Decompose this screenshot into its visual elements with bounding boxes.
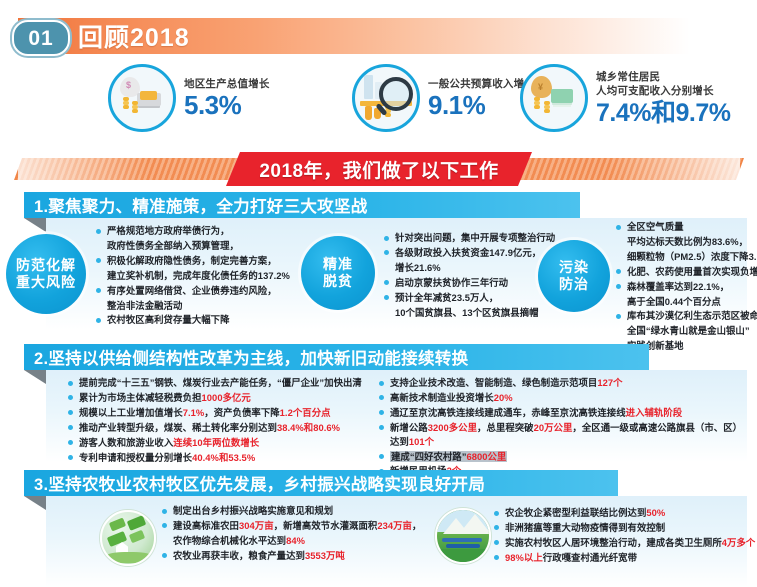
kpi-gdp-label: 地区生产总值增长 — [184, 77, 270, 91]
bullet-item: 有序处置网络借贷、企业债券违约风险， — [96, 284, 296, 298]
section-1-heading-bold: 三大攻坚战 — [284, 193, 368, 217]
bullet-item: 农作物综合机械化水平达到84% — [162, 534, 438, 548]
emphasis-number: 3200多公里 — [428, 422, 477, 433]
bullet-item: 专利申请和授权量分别增长40.4%和53.5% — [68, 451, 398, 465]
emphasis-number: 234万亩 — [377, 520, 412, 531]
section-3-column-1: 制定出台乡村振兴战略实施意见和规划建设高标准农田304万亩，新增高效节水灌溉面积… — [162, 504, 438, 564]
bullet-text: ，新增高效节水灌溉面积 — [274, 520, 378, 531]
emphasis-number: 3553万吨 — [305, 550, 345, 561]
bullet-text: 建成“四好农村路” — [391, 451, 466, 462]
section-3-fold-shadow — [24, 496, 46, 510]
emphasis-number: 84% — [286, 535, 305, 546]
section-3-heading-normal: 3.坚持农牧业农村牧区优先发展， — [34, 471, 284, 495]
emphasis-number: 20万公里 — [534, 422, 573, 433]
bullet-text: 政府性债务全部纳入预算管理， — [107, 240, 239, 251]
section-2-heading: 2.坚持以供给侧结构性改革为主线， 加快新旧动能接续转换 — [24, 344, 649, 370]
kpi-budget-label: 一般公共预算收入增长 — [428, 77, 535, 91]
bullet-text: 规模以上工业增加值增长 — [79, 407, 183, 418]
bullet-item: 高新技术制造业投资增长20% — [379, 391, 751, 405]
bullet-item: 制定出台乡村振兴战略实施意见和规划 — [162, 504, 438, 518]
bullet-item: 全区空气质量 — [616, 220, 757, 234]
bullet-text: 推动产业转型升级，煤炭、稀土转化率分别达到 — [79, 422, 277, 433]
kpi-income-value: 7.4%和9.7% — [596, 100, 730, 126]
page-title: 回顾2018 — [78, 20, 190, 52]
bullet-item: 游客人数和旅游业收入连续10年两位数增长 — [68, 436, 398, 450]
pillar-poverty-alleviation: 精准 脱贫 — [301, 236, 375, 310]
selected-text-highlight: 建成“四好农村路”6800公里 — [390, 451, 507, 462]
bullet-item: 各级财政投入扶贫资金147.9亿元， — [384, 246, 564, 260]
header-number-badge: 01 — [12, 20, 70, 56]
bullet-item: 农村牧区高利贷存量大幅下降 — [96, 313, 296, 327]
section-1-group-3-list: 全区空气质量平均达标天数比例为83.6%，细颗粒物（PM2.5）浓度下降3.1%… — [616, 220, 757, 354]
section-1-body: 防范化解 重大风险 严格规范地方政府举债行为，政府性债务全部纳入预算管理，积极化… — [46, 218, 747, 330]
bullet-item: 建成“四好农村路”6800公里 — [379, 450, 751, 464]
kpi-income-text: 城乡常住居民 人均可支配收入分别增长 7.4%和9.7% — [596, 70, 730, 126]
section-1-group-1-list: 严格规范地方政府举债行为，政府性债务全部纳入预算管理，积极化解政府隐性债务，制定… — [96, 224, 296, 328]
bullet-text: 全国“绿水青山就是金山银山” — [627, 325, 750, 336]
section-1-heading: 1.聚焦聚力、精准施策，全力打好 三大攻坚战 — [24, 192, 580, 218]
emphasis-number: 101个 — [409, 436, 434, 447]
magnifier-city-budget-icon — [352, 64, 420, 132]
emphasis-number: 20% — [494, 392, 513, 403]
bullet-text: 全区空气质量 — [627, 221, 684, 232]
bullet-text: 专利申请和授权量分别增长 — [79, 452, 192, 463]
page-header: 01 回顾2018 — [0, 18, 757, 54]
bullet-item: 积极化解政府隐性债务，制定完善方案， — [96, 254, 296, 268]
money-bag-cash-icon: $ — [108, 64, 176, 132]
emphasis-number: 304万亩 — [239, 520, 274, 531]
pillar-poverty-line-2: 脱贫 — [323, 273, 353, 290]
ribbon-banner: 2018年，我们做了以下工作 — [0, 152, 757, 186]
bullet-item: 实施农村牧区人居环境整治行动，建成各类卫生厕所4万多个 — [494, 536, 757, 550]
farmland-fields-icon — [100, 510, 156, 566]
bullet-item: 新增公路3200多公里，总里程突破20万公里，全区通一级或高速公路旗县（市、区）… — [379, 421, 751, 449]
bullet-text: 新增公路 — [390, 422, 428, 433]
bullet-text: 森林覆盖率达到22.1%， — [627, 281, 729, 292]
bullet-text: 通辽至京沈高铁连接线建成通车，赤峰至京沈高铁连接线 — [390, 407, 626, 418]
bullet-text: 农作物综合机械化水平达到 — [173, 535, 286, 546]
emphasis-number: 1000多亿元 — [202, 392, 251, 403]
emphasis-number: 127个 — [597, 377, 622, 388]
bullet-text: 平均达标天数比例为83.6%， — [627, 236, 748, 247]
bullet-item: 全国“绿水青山就是金山银山” — [616, 324, 757, 338]
bullet-text: 化肥、农药使用量首次实现负增长 — [627, 266, 757, 277]
bullet-text: 预计全年减贫23.5万人， — [395, 292, 498, 303]
pillar-risk-prevention: 防范化解 重大风险 — [6, 234, 86, 314]
emphasis-number: 连续10年两位数增长 — [173, 437, 259, 448]
bullet-text: ，总里程突破 — [477, 422, 534, 433]
kpi-income-label-1: 城乡常住居民 — [596, 70, 730, 84]
bullet-text: 库布其沙漠亿利生态示范区被命名为 — [627, 310, 757, 321]
emphasis-number: 4万多个 — [722, 537, 756, 548]
pillar-pollution-line-2: 防治 — [559, 276, 589, 293]
section-1-fold-shadow — [24, 218, 46, 232]
bullet-text: 支持企业技术改造、智能制造、绿色制造示范项目 — [390, 377, 597, 388]
kpi-budget-revenue-growth: 一般公共预算收入增长 9.1% — [352, 58, 535, 138]
section-3-heading-bold: 乡村振兴战略实现良好开局 — [284, 471, 486, 495]
bullet-text: 有序处置网络借贷、企业债券违约风险， — [107, 285, 277, 296]
section-3-column-2: 农企牧企紧密型利益联结比例达到50%非洲猪瘟等重大动物疫情得到有效控制实施农村牧… — [494, 506, 757, 566]
mountain-river-grassland-icon — [435, 508, 491, 564]
bullet-item: 非洲猪瘟等重大动物疫情得到有效控制 — [494, 521, 757, 535]
bullet-text: 游客人数和旅游业收入 — [79, 437, 173, 448]
emphasis-number: 38.4%和80.6% — [277, 422, 340, 433]
bullet-item: 化肥、农药使用量首次实现负增长 — [616, 265, 757, 279]
section-2-column-2: 支持企业技术改造、智能制造、绿色制造示范项目127个高新技术制造业投资增长20%… — [379, 376, 751, 479]
emphasis-number: 98%以上 — [505, 552, 543, 563]
bullet-item: 启动京蒙扶贫协作三年行动 — [384, 276, 564, 290]
bullet-text: 农牧业再获丰收，粮食产量达到 — [173, 550, 305, 561]
ribbon-red-plate: 2018年，我们做了以下工作 — [226, 152, 532, 186]
kpi-gdp-growth: $ 地区生产总值增长 5.3% — [108, 58, 270, 138]
bullet-text: 启动京蒙扶贫协作三年行动 — [395, 277, 508, 288]
bullet-item: 提前完成“十三五”钢铁、煤炭行业去产能任务，“僵尸企业”加快出清 — [68, 376, 398, 390]
bullet-item: 整治非法金融活动 — [96, 299, 296, 313]
kpi-budget-text: 一般公共预算收入增长 9.1% — [428, 77, 535, 119]
section-2-fold-shadow — [24, 370, 46, 384]
infographic-page: 01 回顾2018 $ 地区生产总值增长 5.3% — [0, 0, 757, 587]
section-2-body: 提前完成“十三五”钢铁、煤炭行业去产能任务，“僵尸企业”加快出清累计为市场主体减… — [46, 370, 747, 462]
bullet-text: 10个国贫旗县、13个区贫旗县摘帽 — [395, 307, 539, 318]
kpi-row: $ 地区生产总值增长 5.3% — [0, 58, 757, 138]
section-2-heading-bold: 加快新旧动能接续转换 — [300, 345, 468, 369]
bullet-text: 高新技术制造业投资增长 — [390, 392, 494, 403]
bullet-item: 严格规范地方政府举债行为， — [96, 224, 296, 238]
section-3-body: 制定出台乡村振兴战略实施意见和规划建设高标准农田304万亩，新增高效节水灌溉面积… — [46, 496, 747, 587]
pillar-pollution-line-1: 污染 — [559, 259, 589, 276]
section-1-group-2-list: 针对突出问题，集中开展专项整治行动各级财政投入扶贫资金147.9亿元，增长21.… — [384, 231, 564, 320]
bullet-item: 通辽至京沈高铁连接线建成通车，赤峰至京沈高铁连接线进入辅轨阶段 — [379, 406, 751, 420]
pillar-risk-line-2: 重大风险 — [16, 274, 76, 291]
bullet-text: 提前完成“十三五”钢铁、煤炭行业去产能任务，“僵尸企业”加快出清 — [79, 377, 362, 388]
bullet-item: 支持企业技术改造、智能制造、绿色制造示范项目127个 — [379, 376, 751, 390]
bullet-item: 森林覆盖率达到22.1%， — [616, 280, 757, 294]
bullet-text: 细颗粒物（PM2.5）浓度下降3.1% — [627, 251, 757, 262]
emphasis-number: 1.2个百分点 — [280, 407, 331, 418]
bullet-item: 细颗粒物（PM2.5）浓度下降3.1% — [616, 250, 757, 264]
pillar-pollution-control: 污染 防治 — [538, 240, 610, 312]
bullet-item: 农牧业再获丰收，粮食产量达到3553万吨 — [162, 549, 438, 563]
bullet-item: 预计全年减贫23.5万人， — [384, 291, 564, 305]
bullet-text: 建设高标准农田 — [173, 520, 239, 531]
bullet-text: 严格规范地方政府举债行为， — [107, 225, 230, 236]
bullet-item: 政府性债务全部纳入预算管理， — [96, 239, 296, 253]
bullet-text: 累计为市场主体减轻税费负担 — [79, 392, 202, 403]
emphasis-number: 进入辅轨阶段 — [626, 407, 683, 418]
bullet-item: 农企牧企紧密型利益联结比例达到50% — [494, 506, 757, 520]
pillar-risk-line-1: 防范化解 — [16, 257, 76, 274]
bullet-item: 累计为市场主体减轻税费负担1000多亿元 — [68, 391, 398, 405]
bullet-item: 10个国贫旗县、13个区贫旗县摘帽 — [384, 306, 564, 320]
kpi-gdp-value: 5.3% — [184, 92, 270, 119]
bullet-item: 高于全国0.44个百分点 — [616, 295, 757, 309]
bullet-text: 针对突出问题，集中开展专项整治行动 — [395, 232, 555, 243]
bullet-text: 各级财政投入扶贫资金147.9亿元， — [395, 247, 541, 258]
bullet-item: 增长21.6% — [384, 261, 564, 275]
pillar-poverty-line-1: 精准 — [323, 256, 353, 273]
emphasis-number: 6800公里 — [466, 451, 506, 462]
bullet-text: 积极化解政府隐性债务，制定完善方案， — [107, 255, 277, 266]
emphasis-number: 50% — [646, 507, 665, 518]
section-2-column-1: 提前完成“十三五”钢铁、煤炭行业去产能任务，“僵尸企业”加快出清累计为市场主体减… — [68, 376, 398, 465]
bullet-item: 98%以上行政嘎查村通光纤宽带 — [494, 551, 757, 565]
bullet-item: 推动产业转型升级，煤炭、稀土转化率分别达到38.4%和80.6% — [68, 421, 398, 435]
header-number-label: 01 — [28, 28, 53, 49]
bullet-text: 制定出台乡村振兴战略实施意见和规划 — [173, 505, 333, 516]
kpi-disposable-income-growth: ¥ 城乡常住居民 人均可支配收入分别增长 7.4%和9.7% — [520, 58, 730, 138]
bullet-item: 建立奖补机制，完成年度化债任务的137.2% — [96, 269, 296, 283]
money-bag-banknotes-icon: ¥ — [520, 64, 588, 132]
bullet-text: 实施农村牧区人居环境整治行动，建成各类卫生厕所 — [505, 537, 722, 548]
bullet-text: 整治非法金融活动 — [107, 300, 182, 311]
bullet-text: ，资产负债率下降 — [204, 407, 279, 418]
section-1-heading-normal: 1.聚焦聚力、精准施策，全力打好 — [34, 193, 284, 217]
bullet-item: 建设高标准农田304万亩，新增高效节水灌溉面积234万亩， — [162, 519, 438, 533]
bullet-text: 增长21.6% — [395, 262, 441, 273]
bullet-item: 针对突出问题，集中开展专项整治行动 — [384, 231, 564, 245]
bullet-text: ， — [412, 520, 421, 531]
bullet-text: 建立奖补机制，完成年度化债任务的137.2% — [107, 270, 290, 281]
bullet-text: 行政嘎查村通光纤宽带 — [543, 552, 637, 563]
emphasis-number: 7.1% — [183, 407, 205, 418]
kpi-budget-value: 9.1% — [428, 92, 535, 119]
bullet-text: 农村牧区高利贷存量大幅下降 — [107, 314, 230, 325]
kpi-income-label-2: 人均可支配收入分别增长 — [596, 84, 730, 98]
kpi-gdp-text: 地区生产总值增长 5.3% — [184, 77, 270, 119]
bullet-text: 农企牧企紧密型利益联结比例达到 — [505, 507, 646, 518]
bullet-item: 库布其沙漠亿利生态示范区被命名为 — [616, 309, 757, 323]
bullet-item: 规模以上工业增加值增长7.1%，资产负债率下降1.2个百分点 — [68, 406, 398, 420]
bullet-text: 高于全国0.44个百分点 — [627, 296, 721, 307]
section-2-heading-normal: 2.坚持以供给侧结构性改革为主线， — [34, 345, 300, 369]
section-3-heading: 3.坚持农牧业农村牧区优先发展， 乡村振兴战略实现良好开局 — [24, 470, 618, 496]
bullet-item: 平均达标天数比例为83.6%， — [616, 235, 757, 249]
emphasis-number: 40.4%和53.5% — [192, 452, 255, 463]
bullet-text: 非洲猪瘟等重大动物疫情得到有效控制 — [505, 522, 665, 533]
ribbon-label: 2018年，我们做了以下工作 — [259, 156, 498, 183]
